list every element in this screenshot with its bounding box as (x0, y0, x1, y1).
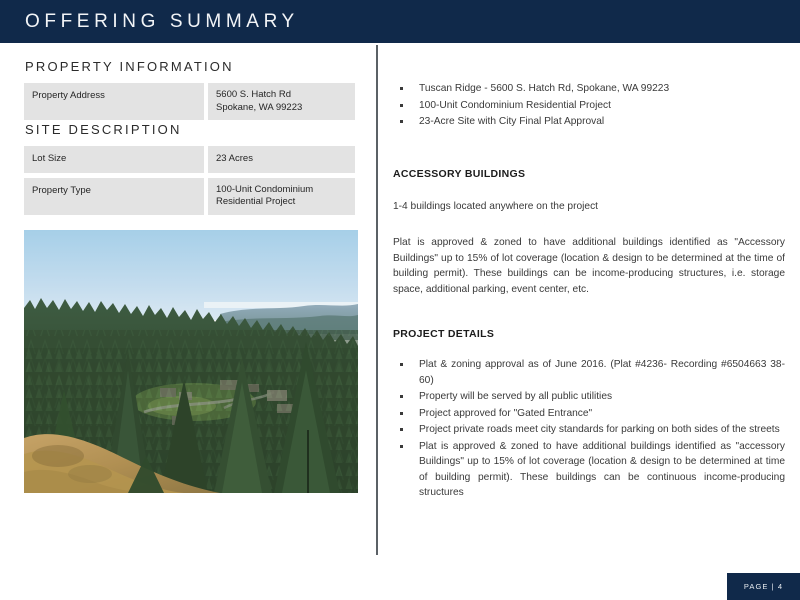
site-description-table: Lot Size 23 Acres Property Type 100-Unit… (24, 146, 355, 220)
row-label: Lot Size (24, 146, 204, 173)
heading-accessory-buildings: ACCESSORY BUILDINGS (393, 168, 785, 180)
list-item: Tuscan Ridge - 5600 S. Hatch Rd, Spokane… (393, 81, 785, 97)
list-item: Project approved for "Gated Entrance" (393, 406, 785, 422)
heading-site-description: SITE DESCRIPTION (25, 122, 182, 137)
accessory-buildings-intro: 1-4 buildings located anywhere on the pr… (393, 199, 785, 215)
row-label: Property Type (24, 178, 204, 215)
accessory-buildings-paragraph: Plat is approved & zoned to have additio… (393, 235, 785, 297)
property-information-table: Property Address 5600 S. Hatch Rd Spokan… (24, 83, 355, 125)
summary-bullet-list: Tuscan Ridge - 5600 S. Hatch Rd, Spokane… (393, 81, 785, 130)
header-banner: OFFERING SUMMARY (0, 0, 800, 43)
row-value: 23 Acres (208, 146, 355, 173)
aerial-photo-tuscan-ridge (24, 230, 358, 493)
table-row: Property Address 5600 S. Hatch Rd Spokan… (24, 83, 355, 120)
list-item: Property will be served by all public ut… (393, 389, 785, 405)
project-details-bullet-list: Plat & zoning approval as of June 2016. … (393, 357, 785, 501)
row-value: 100-Unit Condominium Residential Project (208, 178, 355, 215)
page-number-label: PAGE | 4 (744, 582, 783, 591)
list-item: 23-Acre Site with City Final Plat Approv… (393, 114, 785, 130)
document-page: OFFERING SUMMARY PROPERTY INFORMATION Pr… (0, 0, 800, 600)
column-divider (376, 45, 378, 555)
row-value: 5600 S. Hatch Rd Spokane, WA 99223 (208, 83, 355, 120)
list-item: Plat & zoning approval as of June 2016. … (393, 357, 785, 388)
table-row: Property Type 100-Unit Condominium Resid… (24, 178, 355, 215)
heading-project-details: PROJECT DETAILS (393, 328, 785, 340)
table-row: Lot Size 23 Acres (24, 146, 355, 173)
page-title: OFFERING SUMMARY (25, 11, 299, 33)
list-item: 100-Unit Condominium Residential Project (393, 98, 785, 114)
row-label: Property Address (24, 83, 204, 120)
page-number-badge: PAGE | 4 (727, 573, 800, 600)
list-item: Project private roads meet city standard… (393, 422, 785, 438)
right-column: Tuscan Ridge - 5600 S. Hatch Rd, Spokane… (393, 43, 785, 502)
aerial-photo-graphic (24, 230, 358, 493)
heading-property-information: PROPERTY INFORMATION (25, 59, 234, 74)
list-item: Plat is approved & zoned to have additio… (393, 439, 785, 501)
